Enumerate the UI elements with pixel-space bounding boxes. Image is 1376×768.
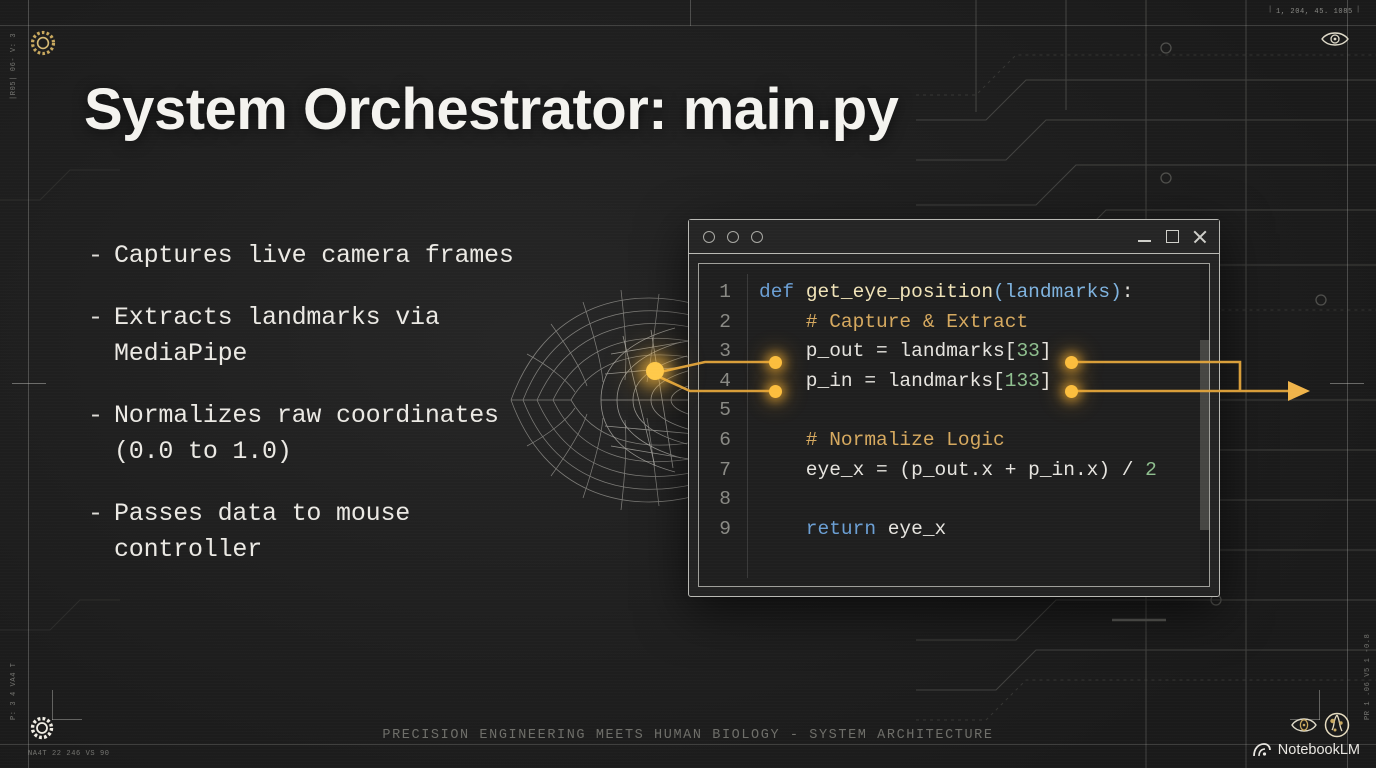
- code-editor-area[interactable]: 1def get_eye_position(landmarks):2 # Cap…: [698, 263, 1210, 587]
- code-token: :: [1122, 281, 1134, 303]
- code-line: 2 # Capture & Extract: [699, 308, 1209, 338]
- code-line: 7 eye_x = (p_out.x + p_in.x) / 2: [699, 456, 1209, 486]
- bullet-text: Captures live camera frames: [114, 238, 558, 274]
- code-token: ]: [1040, 370, 1052, 392]
- code-line-text: eye_x = (p_out.x + p_in.x) / 2: [743, 456, 1157, 486]
- bullet-list: -Captures live camera frames-Extracts la…: [88, 238, 558, 594]
- code-line-number: 4: [699, 367, 743, 397]
- notebooklm-logo-icon: [1253, 743, 1271, 758]
- slide-canvas: |R05| 06- V: 3 P: 3 4 VA4 T NA4T 22 246 …: [0, 0, 1376, 768]
- bullet-text: Passes data to mouse controller: [114, 496, 558, 568]
- notebooklm-brand-label: NotebookLM: [1278, 742, 1360, 758]
- maximize-icon[interactable]: [1166, 230, 1179, 243]
- code-line-text: p_out = landmarks[33]: [743, 337, 1052, 367]
- notebooklm-brand: NotebookLM: [1253, 742, 1360, 758]
- code-token: return: [759, 518, 876, 540]
- bullet-text: Normalizes raw coordinates (0.0 to 1.0): [114, 398, 558, 470]
- code-token: # Capture & Extract: [759, 311, 1028, 333]
- code-line-number: 2: [699, 308, 743, 338]
- micro-text-left-top: |R05| 06- V: 3: [10, 33, 18, 100]
- gear-ornament-icon: [28, 28, 58, 58]
- bullet-dash: -: [88, 238, 114, 274]
- flow-node-line3-right: [1065, 356, 1078, 369]
- code-token: 33: [1016, 340, 1039, 362]
- frame-rule-right: [1347, 0, 1348, 768]
- code-scrollbar-thumb[interactable]: [1200, 340, 1209, 530]
- code-line-text: [743, 396, 759, 426]
- code-line-number: 9: [699, 515, 743, 545]
- code-line-number: 5: [699, 396, 743, 426]
- code-token: eye_x: [876, 518, 946, 540]
- code-token: # Normalize Logic: [759, 429, 1005, 451]
- eye-focal-glow: [646, 362, 664, 380]
- frame-rule-inner-top-left: [690, 0, 691, 26]
- code-line-text: # Capture & Extract: [743, 308, 1028, 338]
- code-line-number: 3: [699, 337, 743, 367]
- frame-rule-top: [0, 25, 1376, 26]
- code-window-titlebar[interactable]: [689, 220, 1219, 254]
- code-line-number: 8: [699, 485, 743, 515]
- code-line-number: 1: [699, 278, 743, 308]
- code-line: 1def get_eye_position(landmarks):: [699, 278, 1209, 308]
- code-line-number: 6: [699, 426, 743, 456]
- footer-caption: PRECISION ENGINEERING MEETS HUMAN BIOLOG…: [0, 728, 1376, 743]
- code-line-text: def get_eye_position(landmarks):: [743, 278, 1133, 308]
- code-line-text: p_in = landmarks[133]: [743, 367, 1052, 397]
- code-token: 2: [1145, 459, 1157, 481]
- code-line-text: return eye_x: [743, 515, 946, 545]
- code-window[interactable]: 1def get_eye_position(landmarks):2 # Cap…: [688, 219, 1220, 597]
- code-token: ]: [1040, 340, 1052, 362]
- close-icon[interactable]: [1193, 230, 1207, 244]
- code-token: get_eye_position: [806, 281, 993, 303]
- code-token: p_out = landmarks[: [759, 340, 1016, 362]
- code-scrollbar[interactable]: [1200, 264, 1209, 586]
- frame-rule-bottom: [0, 744, 1376, 745]
- bullet-dash: -: [88, 300, 114, 336]
- flow-node-line4-left: [769, 385, 782, 398]
- bullet-item: -Captures live camera frames: [88, 238, 558, 274]
- frame-tick-left: [12, 383, 46, 384]
- code-token: p_in = landmarks[: [759, 370, 1005, 392]
- code-token: ): [1110, 281, 1122, 303]
- flow-node-line3-left: [769, 356, 782, 369]
- code-line: 8: [699, 485, 1209, 515]
- minimize-icon[interactable]: [1138, 230, 1152, 244]
- code-line: 5: [699, 396, 1209, 426]
- code-line: 6 # Normalize Logic: [699, 426, 1209, 456]
- eye-icon-top-right[interactable]: [1320, 28, 1350, 50]
- frame-rule-left: [28, 0, 29, 768]
- corner-readout: 1, 204, 45. 1085: [1276, 8, 1353, 16]
- code-lines-container: 1def get_eye_position(landmarks):2 # Cap…: [699, 264, 1209, 544]
- code-line: 9 return eye_x: [699, 515, 1209, 545]
- bullet-item: -Extracts landmarks via MediaPipe: [88, 300, 558, 372]
- code-line-text: # Normalize Logic: [743, 426, 1005, 456]
- window-dot-1-icon[interactable]: [703, 231, 715, 243]
- bullet-item: -Passes data to mouse controller: [88, 496, 558, 568]
- code-line-text: [743, 485, 759, 515]
- corner-readout-bracket-right: |: [1356, 6, 1361, 14]
- code-token: (: [993, 281, 1005, 303]
- bullet-dash: -: [88, 496, 114, 532]
- bullet-text: Extracts landmarks via MediaPipe: [114, 300, 558, 372]
- micro-text-bottom-left: NA4T 22 246 VS 90: [28, 750, 110, 758]
- code-token: landmarks: [1005, 281, 1110, 303]
- code-token: eye_x = (p_out.x + p_in.x) /: [759, 459, 1145, 481]
- window-dot-3-icon[interactable]: [751, 231, 763, 243]
- code-token: def: [759, 281, 806, 303]
- bullet-dash: -: [88, 398, 114, 434]
- window-dot-2-icon[interactable]: [727, 231, 739, 243]
- micro-text-right-bottom: PR 1 .06 V5 1 -0.8: [1364, 634, 1372, 720]
- corner-readout-bracket-left: |: [1268, 6, 1273, 14]
- code-token: 133: [1005, 370, 1040, 392]
- bullet-item: -Normalizes raw coordinates (0.0 to 1.0): [88, 398, 558, 470]
- frame-tick-right: [1330, 383, 1364, 384]
- corner-bracket-bottom-left: [52, 690, 82, 720]
- micro-text-left-bottom: P: 3 4 VA4 T: [10, 662, 18, 720]
- code-line-number: 7: [699, 456, 743, 486]
- window-controls-group: [1138, 230, 1207, 244]
- page-title: System Orchestrator: main.py: [84, 76, 898, 143]
- window-dots-group: [703, 231, 763, 243]
- flow-node-line4-right: [1065, 385, 1078, 398]
